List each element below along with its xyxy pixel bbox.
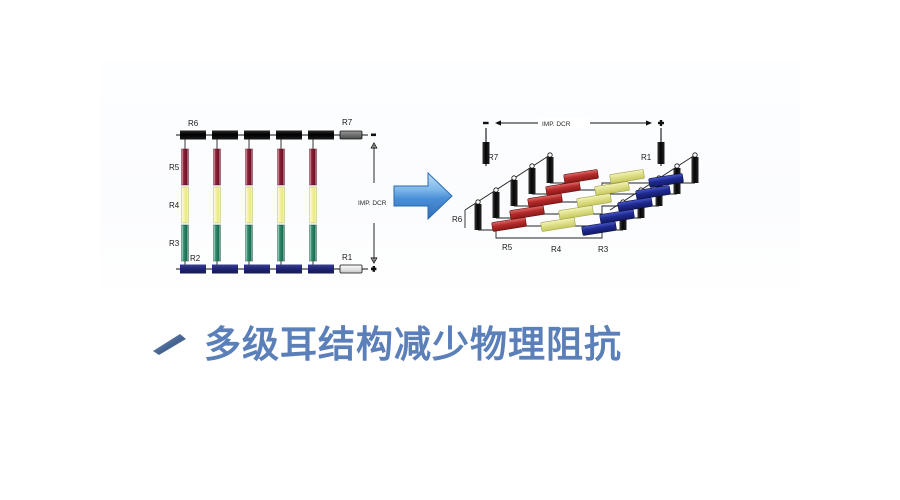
label-R6: R6 [188,119,199,128]
branch-column [214,139,221,269]
branch-column [182,139,189,269]
right-circuit-diagram: IMP. DCR [450,110,715,290]
slide-canvas: R6 R7 [0,0,900,500]
right-negative-sign [483,122,489,124]
left-circuit-diagram: R6 R7 [168,115,398,290]
blue-right-arrow-icon [392,168,454,224]
label-R7-right: R7 [488,153,499,162]
page-title: 多级耳结构减少物理阻抗 [204,326,622,363]
label-R6-right: R6 [452,215,463,224]
right-positive-sign [658,120,664,126]
right-circuit-svg: IMP. DCR [450,110,715,290]
label-R4-right: R4 [551,245,562,254]
left-positive-sign [371,266,376,272]
blue-slash-accent-icon [150,329,190,359]
branch-column [278,139,285,269]
label-R1: R1 [342,253,353,262]
label-R3: R3 [169,239,180,248]
bottom-bus-R2 [176,265,334,274]
branch-column [246,139,253,269]
top-bus-R6 [176,131,334,140]
label-R7: R7 [342,118,353,127]
label-R5: R5 [169,163,180,172]
resistor-R7 [334,131,368,139]
label-R3-right: R3 [598,245,609,254]
transition-arrow [392,168,454,224]
branch-column [310,139,317,269]
resistor-R1 [334,265,368,273]
right-imp-dcr-label: IMP. DCR [542,121,571,128]
caption-row: 多级耳结构减少物理阻抗 [150,312,770,376]
left-negative-sign [371,134,376,137]
branch-columns [182,139,317,269]
terminal-leads [483,128,665,166]
left-circuit-svg: R6 R7 [168,115,398,290]
left-imp-dcr-label: IMP. DCR [358,200,387,207]
label-R2: R2 [190,254,201,263]
label-R5-right: R5 [502,243,513,252]
label-R4: R4 [169,201,180,210]
label-R1-right: R1 [641,153,652,162]
